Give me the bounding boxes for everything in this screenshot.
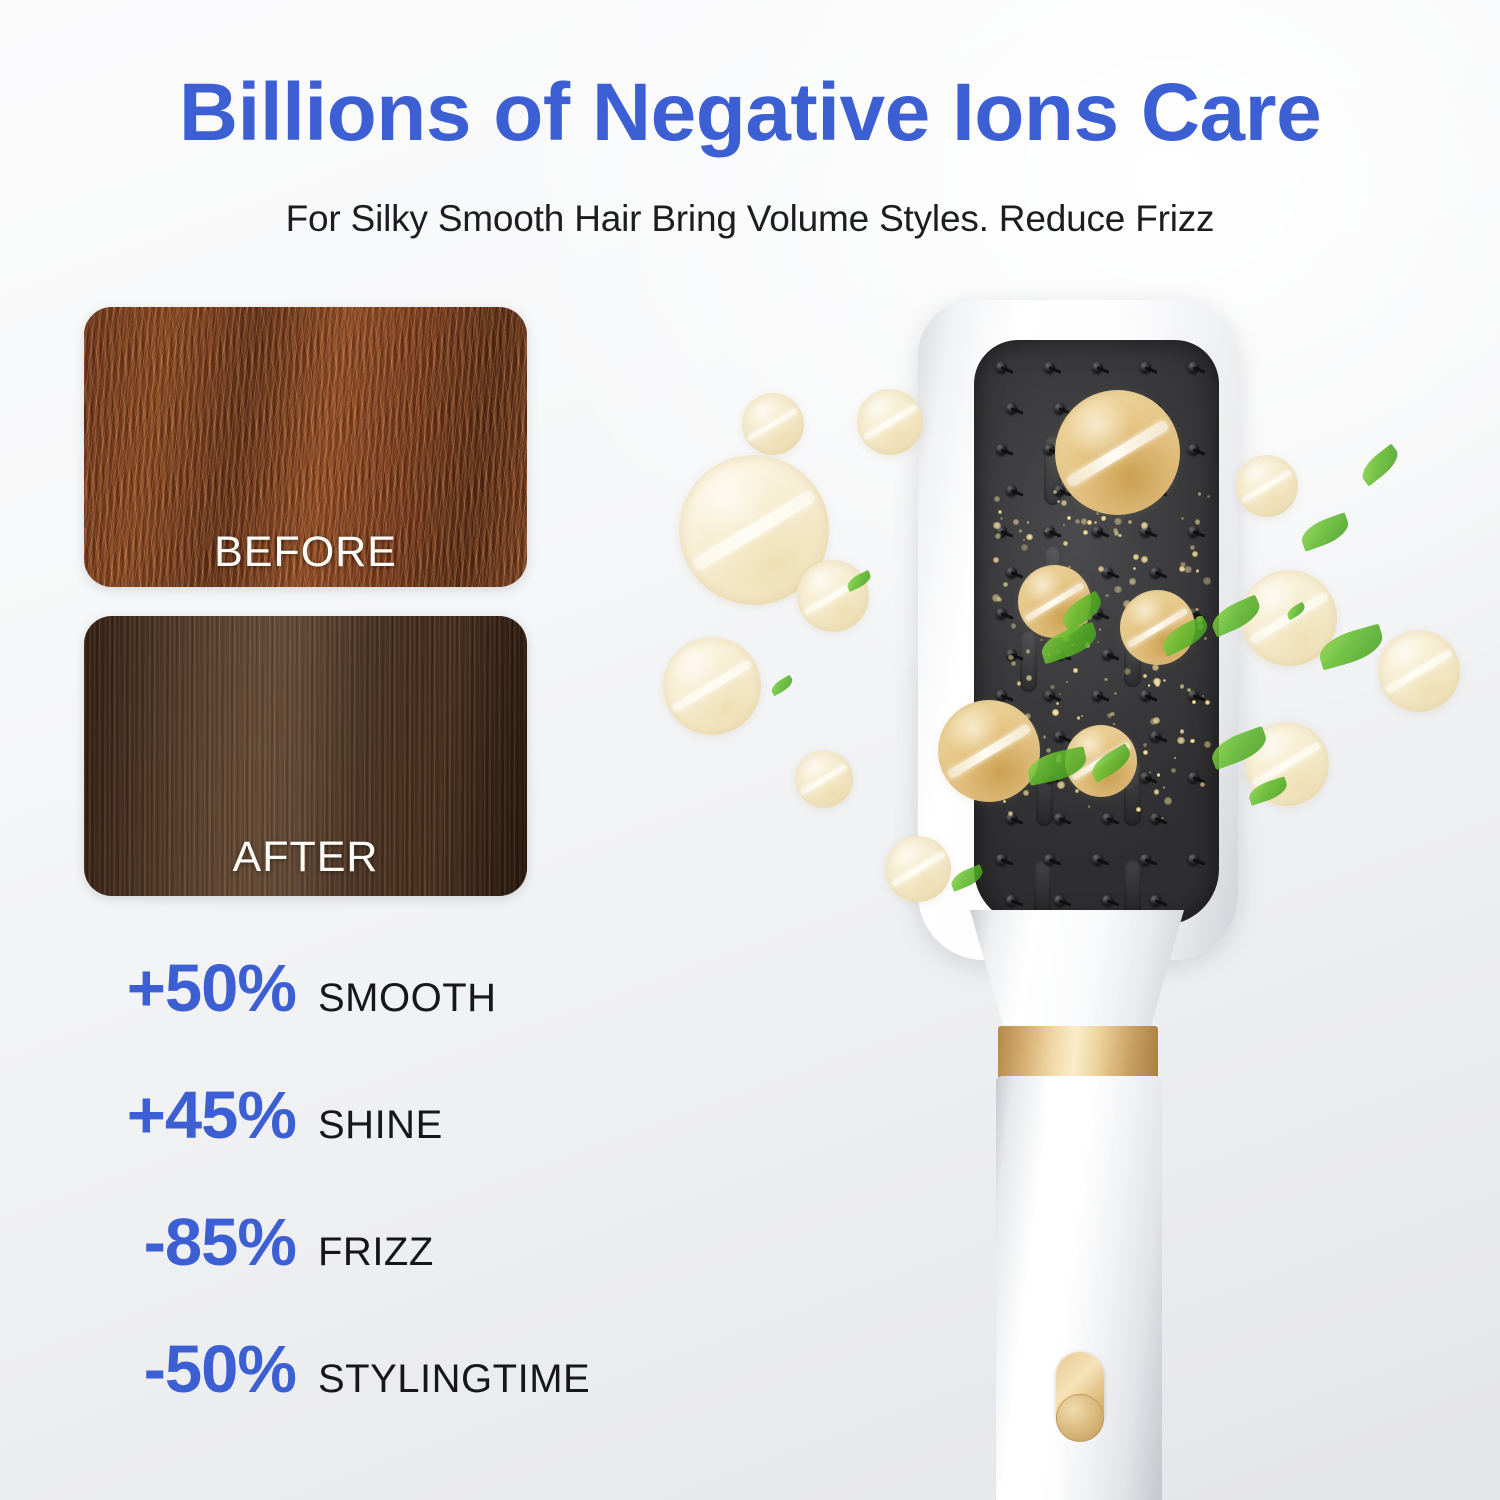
oil-bubble: [797, 560, 869, 632]
ion-sparkle: [1114, 586, 1121, 593]
ion-sparkle: [1192, 700, 1196, 704]
ion-sparkle: [1059, 693, 1061, 695]
stat-label: STYLINGTIME: [318, 1359, 590, 1399]
bristle-dot: [1102, 895, 1113, 906]
bristle-dot: [1092, 854, 1103, 865]
bubble-highlight-streak: [692, 489, 817, 571]
ion-sparkle: [998, 510, 1002, 514]
ion-sparkle: [1052, 709, 1059, 716]
ion-sparkle: [1088, 805, 1091, 808]
bristle-dot: [1054, 895, 1065, 906]
bristle-dot: [1140, 854, 1151, 865]
ion-sparkle: [1096, 512, 1099, 515]
ion-sparkle: [1105, 594, 1108, 597]
oil-bubble: [795, 750, 853, 808]
ion-sparkle: [1204, 637, 1207, 640]
ion-sparkle: [1056, 702, 1059, 705]
oil-bubble: [1378, 630, 1460, 712]
ion-sparkle: [1099, 628, 1102, 631]
benefit-stats-list: +50% SMOOTH +45% SHINE -85% FRIZZ -50% S…: [78, 955, 698, 1463]
ion-sparkle: [1192, 551, 1198, 557]
ion-sparkle: [1150, 718, 1157, 725]
ion-sparkle: [1184, 566, 1192, 574]
product-marketing-banner: Billions of Negative Ions Care For Silky…: [0, 0, 1500, 1500]
ion-sparkle: [1073, 668, 1078, 673]
ion-sparkle: [1157, 773, 1161, 777]
ion-sparkle: [1097, 641, 1099, 643]
ion-sparkle: [1205, 700, 1210, 705]
oil-bubble: [742, 393, 804, 455]
ion-sparkle: [1203, 577, 1211, 585]
ion-sparkle: [1046, 748, 1051, 753]
ion-sparkle: [1128, 520, 1132, 524]
bubble-highlight-streak: [1241, 469, 1293, 503]
ion-sparkle: [1094, 521, 1098, 525]
bristle-dot: [1092, 526, 1103, 537]
bristle-dot: [996, 444, 1007, 455]
stat-row: -50% STYLINGTIME: [78, 1336, 698, 1463]
ion-sparkle: [1019, 529, 1023, 533]
bristle-dot: [996, 690, 1007, 701]
bristle-dot: [1102, 813, 1113, 824]
ion-sparkle: [1023, 539, 1025, 541]
bristle-dot: [1140, 772, 1151, 783]
bristle-dot: [1188, 772, 1199, 783]
bristle-dot: [996, 608, 1007, 619]
ion-sparkle: [1190, 545, 1195, 550]
ion-sparkle: [1008, 811, 1013, 816]
green-leaf: [769, 675, 795, 697]
before-label: BEFORE: [84, 528, 527, 577]
bristle-dot: [1188, 444, 1199, 455]
stat-label: SMOOTH: [318, 978, 497, 1018]
bristle-dot: [1150, 813, 1161, 824]
bristle-dot: [1044, 854, 1055, 865]
ion-sparkle: [1207, 495, 1211, 499]
ion-sparkle: [1190, 739, 1194, 743]
ion-sparkle: [1011, 623, 1017, 629]
ion-sparkle: [1141, 522, 1148, 529]
ion-sparkle: [1021, 544, 1028, 551]
stat-row: +50% SMOOTH: [78, 955, 698, 1082]
ion-sparkle: [1163, 786, 1166, 789]
ion-sparkle: [1171, 768, 1176, 773]
bristle-dot: [1054, 813, 1065, 824]
ion-sparkle: [1067, 516, 1071, 520]
ion-sparkle: [1195, 519, 1200, 524]
ion-sparkle: [1164, 797, 1172, 805]
ion-sparkle: [1066, 681, 1068, 683]
ion-sparkle: [1063, 541, 1068, 546]
bubble-highlight-streak: [1065, 419, 1169, 487]
after-image-card: AFTER: [84, 616, 527, 896]
ion-sparkle: [1200, 782, 1205, 787]
oil-bubble: [857, 389, 923, 455]
ion-sparkle: [993, 557, 999, 563]
ion-sparkle: [1133, 567, 1136, 570]
ion-sparkle: [1129, 578, 1135, 584]
stat-percentage: -50%: [78, 1336, 296, 1403]
bristle-dot: [1044, 362, 1055, 373]
bristle-dot: [1188, 362, 1199, 373]
ion-sparkle: [1187, 688, 1191, 692]
stat-row: -85% FRIZZ: [78, 1209, 698, 1336]
bristle-dot: [1092, 362, 1103, 373]
ion-sparkle: [1196, 569, 1199, 572]
ion-sparkle: [1113, 723, 1115, 725]
ion-sparkle: [1154, 789, 1159, 794]
bristle-dot: [1054, 403, 1065, 414]
bristle-dot: [1006, 403, 1017, 414]
power-dial-icon[interactable]: [1056, 1394, 1104, 1442]
ion-sparkle: [1003, 582, 1008, 587]
oil-bubble: [1236, 455, 1298, 517]
after-label: AFTER: [84, 833, 527, 882]
ion-sparkle: [1143, 674, 1147, 678]
bristle-dot: [1150, 731, 1161, 742]
bubble-highlight-streak: [747, 407, 799, 441]
ion-sparkle: [1180, 729, 1184, 733]
bristle-dot: [1006, 567, 1017, 578]
ion-sparkle: [1177, 737, 1185, 745]
page-subtitle: For Silky Smooth Hair Bring Volume Style…: [0, 198, 1500, 240]
ion-sparkle: [1148, 684, 1151, 687]
bristle-dot: [1140, 690, 1151, 701]
ion-sparkle: [1141, 556, 1148, 563]
green-leaf: [1297, 512, 1352, 552]
ion-sparkle: [1087, 520, 1093, 526]
ion-sparkle: [1077, 716, 1080, 719]
ion-sparkle: [1081, 518, 1088, 525]
ion-sparkle: [1180, 684, 1185, 689]
ion-sparkle: [1050, 685, 1054, 689]
bubble-highlight-streak: [863, 404, 918, 440]
bubble-highlight-streak: [800, 763, 848, 795]
ion-sparkle: [1143, 743, 1148, 748]
bubble-highlight-streak: [1385, 649, 1453, 694]
ion-sparkle: [1061, 500, 1067, 506]
ion-sparkle: [1204, 741, 1211, 748]
bubble-highlight-streak: [947, 723, 1032, 779]
ion-sparkle: [1155, 682, 1160, 687]
ion-sparkle: [1027, 521, 1029, 523]
ion-sparkle: [1063, 524, 1066, 527]
bristle-dot: [1102, 649, 1113, 660]
gold-accent-band: [998, 1026, 1158, 1080]
oil-bubble: [938, 700, 1040, 802]
stat-label: FRIZZ: [318, 1232, 434, 1272]
ion-sparkle: [1163, 679, 1166, 682]
bristle-pad-vent: [1020, 630, 1037, 692]
ion-sparkle: [1136, 807, 1141, 812]
ion-sparkle: [1043, 735, 1047, 739]
oil-bubble: [663, 637, 761, 735]
ion-sparkle: [1023, 790, 1029, 796]
bristle-pad-vent: [1124, 860, 1141, 918]
ion-sparkle: [1198, 492, 1202, 496]
before-image-card: BEFORE: [84, 307, 527, 587]
bubble-highlight-streak: [891, 851, 946, 887]
ion-sparkle: [1104, 678, 1107, 681]
bristle-dot: [1188, 854, 1199, 865]
ion-sparkle: [1057, 781, 1065, 789]
ion-sparkle: [1102, 516, 1106, 520]
bristle-dot: [996, 362, 1007, 373]
bristle-dot: [1092, 690, 1103, 701]
ion-sparkle: [1017, 681, 1022, 686]
ion-sparkle: [1026, 675, 1032, 681]
ion-sparkle: [1174, 757, 1177, 760]
ion-sparkle: [995, 533, 1001, 539]
brush-neck: [970, 910, 1184, 1030]
bristle-dot: [1044, 444, 1055, 455]
ion-sparkle: [1143, 750, 1148, 755]
ion-sparkle: [1040, 639, 1043, 642]
ion-sparkle: [1152, 664, 1159, 671]
bristle-dot: [1150, 895, 1161, 906]
ion-sparkle: [1026, 534, 1032, 540]
ion-sparkle: [992, 594, 1000, 602]
oil-bubble: [885, 836, 951, 902]
oil-bubble: [1055, 390, 1180, 515]
green-leaf: [1357, 444, 1404, 487]
bristle-dot: [1006, 485, 1017, 496]
stat-percentage: +50%: [78, 955, 296, 1022]
stat-row: +45% SHINE: [78, 1082, 698, 1209]
ion-sparkle: [1000, 517, 1003, 520]
bristle-dot: [996, 854, 1007, 865]
ion-sparkle: [1081, 715, 1083, 717]
ion-sparkle: [1075, 519, 1081, 525]
bristle-dot: [1140, 362, 1151, 373]
bubble-highlight-streak: [671, 659, 753, 713]
bristle-dot: [1188, 526, 1199, 537]
ion-sparkle: [1114, 692, 1117, 695]
ion-sparkle: [1003, 800, 1006, 803]
ion-sparkle: [1149, 771, 1152, 774]
ion-sparkle: [1011, 661, 1015, 665]
ion-sparkle: [1013, 519, 1019, 525]
stat-percentage: +45%: [78, 1082, 296, 1149]
bristle-dot: [1150, 567, 1161, 578]
ion-sparkle: [1195, 608, 1198, 611]
bristle-dot: [1044, 690, 1055, 701]
page-title: Billions of Negative Ions Care: [0, 66, 1500, 160]
ion-sparkle: [1133, 554, 1139, 560]
bristle-pad-vent: [1034, 860, 1051, 918]
bristle-dot: [1006, 895, 1017, 906]
bristle-dot: [1054, 731, 1065, 742]
stat-label: SHINE: [318, 1105, 443, 1145]
ion-sparkle: [1083, 530, 1088, 535]
ion-sparkle: [1107, 713, 1112, 718]
ion-sparkle: [1181, 517, 1183, 519]
ion-sparkle: [994, 496, 1000, 502]
stat-percentage: -85%: [78, 1209, 296, 1276]
ion-sparkle: [1114, 518, 1121, 525]
bubble-highlight-streak: [1252, 741, 1322, 787]
